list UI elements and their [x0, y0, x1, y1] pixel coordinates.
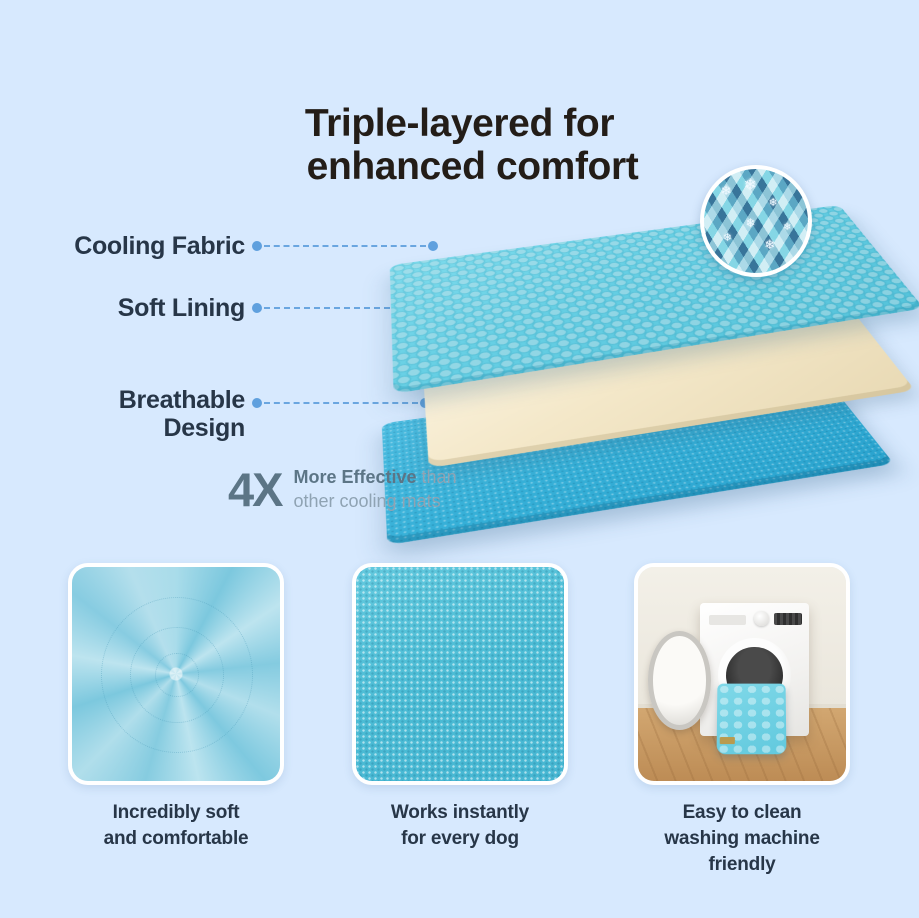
- connector-dot-start: [252, 398, 262, 408]
- claim-rest-text: than: [417, 467, 457, 487]
- connector-dot-start: [252, 303, 262, 313]
- mesh-cooling-fabric-image: [356, 567, 564, 781]
- detergent-drawer: [709, 615, 746, 624]
- claim-description: More Effective than other cooling mats: [294, 466, 457, 514]
- feature-caption-incredibly-soft: Incredibly soft and comfortable: [36, 800, 316, 852]
- washing-machine-door: [648, 631, 710, 729]
- snowflake-icon: ❄: [744, 178, 757, 194]
- claim-line-2: other cooling mats: [294, 490, 457, 514]
- control-knob-icon: [754, 611, 768, 626]
- feature-card-works-instantly: [352, 563, 568, 785]
- snowflake-icon: ❄: [746, 217, 756, 229]
- feature-card-incredibly-soft: [68, 563, 284, 785]
- snowflake-icon: ❄: [768, 198, 777, 209]
- title-line-1: Triple-layered for: [305, 102, 614, 145]
- claim-multiplier: 4X: [228, 466, 282, 513]
- infographic-page: Triple-layered for enhanced comfort Cool…: [0, 0, 919, 918]
- snowflake-icon: ❄: [723, 233, 732, 244]
- layer-label-soft-lining: Soft Lining: [10, 294, 245, 322]
- mat-brand-tag: [719, 737, 734, 743]
- washing-machine-image: [638, 567, 846, 781]
- feature-card-row: [0, 563, 919, 803]
- effectiveness-claim: 4X More Effective than other cooling mat…: [228, 466, 457, 514]
- claim-line-1: More Effective than: [294, 466, 457, 490]
- layer-label-cooling-fabric: Cooling Fabric: [10, 232, 245, 260]
- layer-label-breathable-design: Breathable Design: [10, 386, 245, 442]
- snowflake-icon: ❄: [721, 184, 732, 197]
- cooling-fiber-closeup-icon: ❄ ❄ ❄ ❄ ❄ ❄ ❄: [700, 165, 812, 277]
- swirled-quilted-fabric-image: [72, 567, 280, 781]
- snowflake-icon: ❄: [783, 223, 791, 233]
- cooling-mat-in-machine: [717, 683, 786, 753]
- connector-dot-start: [252, 241, 262, 251]
- claim-bold-text: More Effective: [294, 467, 417, 487]
- feature-card-easy-to-clean: [634, 563, 850, 785]
- quilt-stitch-ring: [155, 653, 199, 698]
- snowflake-icon: ❄: [764, 238, 775, 251]
- control-display: [774, 613, 802, 625]
- feature-caption-works-instantly: Works instantly for every dog: [320, 800, 600, 852]
- feature-caption-easy-to-clean: Easy to clean washing machine friendly: [602, 800, 882, 879]
